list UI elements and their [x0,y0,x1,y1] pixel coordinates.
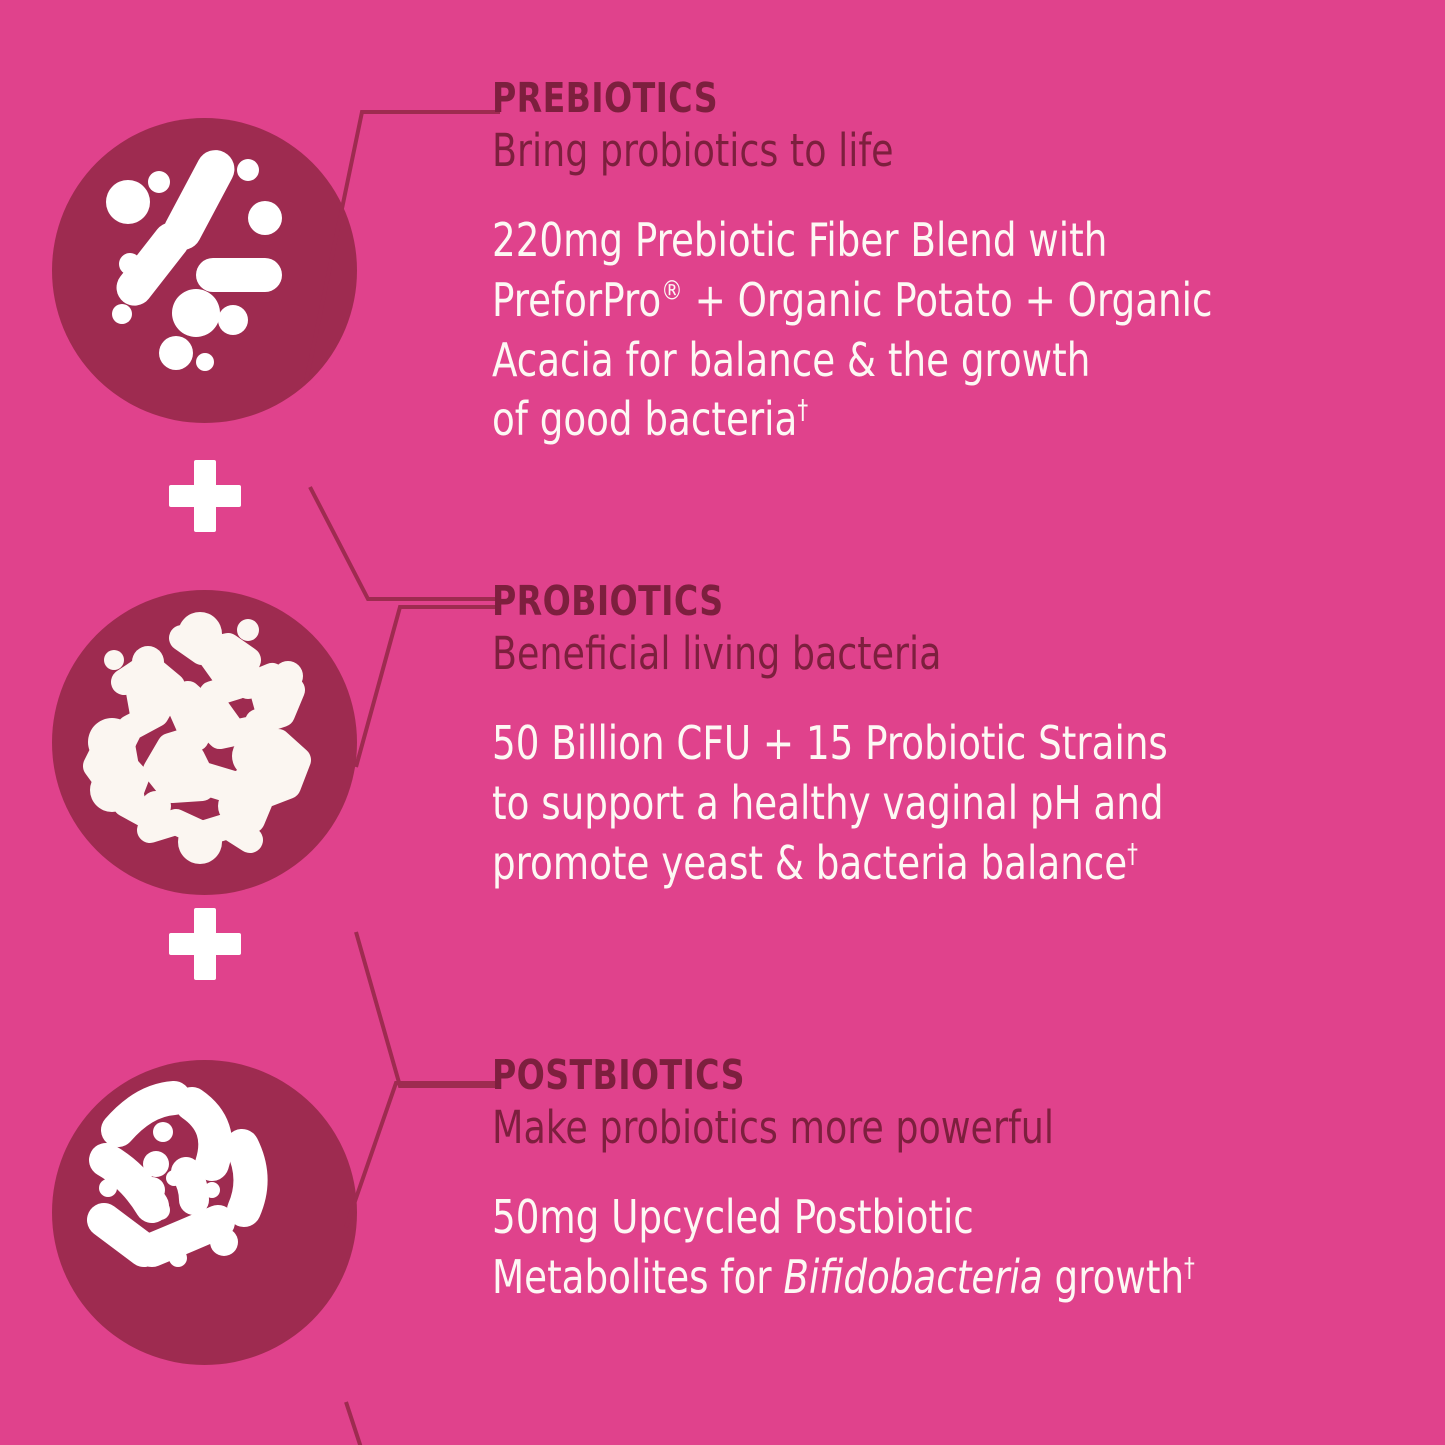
body-line-2-rest: + Organic Potato + Organic [683,273,1213,327]
probiotic-metaball-colony-icon [52,590,357,895]
body-line-3: Acacia for balance & the growth [492,333,1090,387]
section-probiotics: PROBIOTICS Beneficial living bacteria 50… [0,565,1445,965]
text-column-postbiotics: POSTBIOTICS Make probiotics more powerfu… [492,1053,1422,1308]
body-line-2-prefix: Metabolites for [492,1250,783,1304]
text-column-prebiotics: PREBIOTICS Bring probiotics to life 220m… [492,76,1422,450]
section-prebiotics: PREBIOTICS Bring probiotics to life 220m… [0,60,1445,460]
kicker-prebiotics: PREBIOTICS [492,76,1329,122]
body-line-2: to support a healthy vaginal pH and [492,776,1163,830]
postbiotic-curved-bacilli-icon [52,1060,357,1365]
section-postbiotics: POSTBIOTICS Make probiotics more powerfu… [0,1035,1445,1435]
text-column-probiotics: PROBIOTICS Beneficial living bacteria 50… [492,579,1422,893]
kicker-probiotics: PROBIOTICS [492,579,1329,625]
body-line-1: 220mg Prebiotic Fiber Blend with [492,213,1107,267]
body-line-1: 50mg Upcycled Postbiotic [492,1190,974,1244]
body-line-2-brand: PreforPro [492,273,661,327]
plus-separator-icon [169,460,241,532]
infographic-page: PREBIOTICS Bring probiotics to life 220m… [0,0,1445,1445]
body-copy-probiotics: 50 Billion CFU + 15 Probiotic Strains to… [492,714,1329,893]
species-name-italic: Bifidobacteria [783,1250,1042,1304]
subhead-probiotics: Beneficial living bacteria [492,627,1329,680]
dagger-symbol: † [1184,1252,1195,1283]
body-copy-postbiotics: 50mg Upcycled Postbiotic Metabolites for… [492,1188,1329,1308]
dagger-symbol: † [1127,838,1138,869]
body-line-4: of good bacteria [492,392,797,446]
plus-separator-icon [169,908,241,980]
subhead-postbiotics: Make probiotics more powerful [492,1101,1329,1154]
body-copy-prebiotics: 220mg Prebiotic Fiber Blend with PreforP… [492,211,1329,450]
prebiotic-rods-and-dots-icon [52,118,357,423]
body-line-1: 50 Billion CFU + 15 Probiotic Strains [492,716,1168,770]
body-line-2-suffix: growth [1043,1250,1184,1304]
kicker-postbiotics: POSTBIOTICS [492,1053,1329,1099]
registered-trademark-symbol: ® [661,275,683,306]
subhead-prebiotics: Bring probiotics to life [492,124,1329,177]
dagger-symbol: † [797,395,808,426]
body-line-3: promote yeast & bacteria balance [492,836,1127,890]
